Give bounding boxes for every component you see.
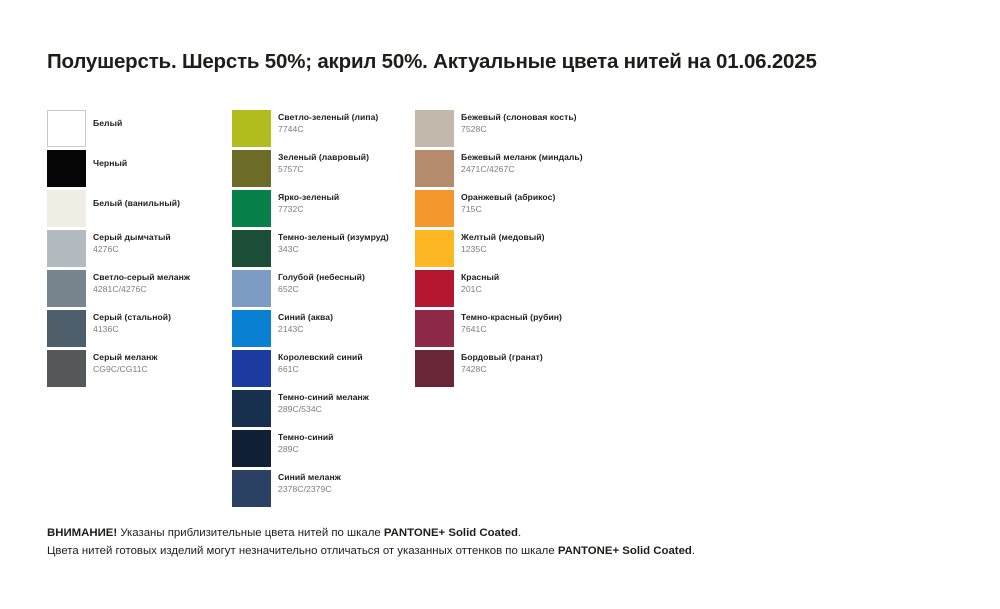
page-title: Полушерсть. Шерсть 50%; акрил 50%. Актуа… — [47, 50, 967, 74]
swatch-labels: Темно-синий289C — [278, 430, 508, 454]
color-swatch — [47, 110, 86, 147]
swatch-row: Зеленый (лавровый)5757C — [232, 150, 412, 190]
swatch-pantone-code: 1235C — [461, 242, 721, 254]
footer-brand-1: PANTONE+ Solid Coated — [384, 527, 518, 539]
color-swatch — [232, 390, 271, 427]
swatch-name: Оранжевый (абрикос) — [461, 190, 721, 202]
swatch-name: Темно-красный (рубин) — [461, 310, 721, 322]
color-swatch — [232, 430, 271, 467]
swatch-name: Темно-синий меланж — [278, 390, 508, 402]
swatch-pantone-code: 201C — [461, 282, 721, 294]
color-swatch — [232, 470, 271, 507]
swatch-name: Синий меланж — [278, 470, 508, 482]
swatch-row: Желтый (медовый)1235C — [415, 230, 655, 270]
color-swatch — [47, 230, 86, 267]
swatch-labels: Бежевый (слоновая кость)7528C — [461, 110, 721, 134]
swatch-labels: Бежевый меланж (миндаль)2471C/4267C — [461, 150, 721, 174]
swatch-row: Ярко-зеленый7732C — [232, 190, 412, 230]
swatch-labels: Темно-синий меланж289C/534C — [278, 390, 508, 414]
swatch-labels: Желтый (медовый)1235C — [461, 230, 721, 254]
color-swatch — [415, 150, 454, 187]
color-swatch — [232, 270, 271, 307]
footer-line-2-end: . — [692, 545, 695, 557]
swatch-labels: Красный201C — [461, 270, 721, 294]
color-swatch — [47, 350, 86, 387]
color-swatch — [232, 110, 271, 147]
color-swatch — [47, 150, 86, 187]
swatch-name: Бежевый (слоновая кость) — [461, 110, 721, 122]
swatch-row: Бежевый меланж (миндаль)2471C/4267C — [415, 150, 655, 190]
swatch-row: Бордовый (гранат)7428C — [415, 350, 655, 390]
swatch-name: Бежевый меланж (миндаль) — [461, 150, 721, 162]
color-swatch — [415, 350, 454, 387]
color-swatch — [47, 310, 86, 347]
swatch-row: Синий меланж2378C/2379C — [232, 470, 412, 510]
swatch-row: Белый — [47, 110, 227, 150]
swatch-row: Черный — [47, 150, 227, 190]
swatch-row: Темно-красный (рубин)7641C — [415, 310, 655, 350]
color-swatch — [232, 190, 271, 227]
swatch-pantone-code: 715C — [461, 202, 721, 214]
footer-brand-2: PANTONE+ Solid Coated — [558, 545, 692, 557]
swatch-row: Красный201C — [415, 270, 655, 310]
footer-line-2: Цвета нитей готовых изделий могут незнач… — [47, 542, 967, 560]
swatch-row: Оранжевый (абрикос)715C — [415, 190, 655, 230]
footer-line-1: ВНИМАНИЕ! Указаны приблизительные цвета … — [47, 524, 967, 542]
swatch-row: Светло-зеленый (липа)7744C — [232, 110, 412, 150]
color-swatch — [47, 190, 86, 227]
color-card-page: Полушерсть. Шерсть 50%; акрил 50%. Актуа… — [0, 0, 1000, 609]
footer-attention-label: ВНИМАНИЕ! — [47, 527, 117, 539]
color-swatch — [415, 310, 454, 347]
swatch-row: Серый дымчатый4276C — [47, 230, 227, 270]
swatch-row: Голубой (небесный)652C — [232, 270, 412, 310]
swatch-row: Бежевый (слоновая кость)7528C — [415, 110, 655, 150]
color-swatch — [415, 230, 454, 267]
swatch-column-3: Бежевый (слоновая кость)7528CБежевый мел… — [415, 110, 655, 390]
swatch-pantone-code: 7528C — [461, 122, 721, 134]
swatch-name: Желтый (медовый) — [461, 230, 721, 242]
swatch-labels: Бордовый (гранат)7428C — [461, 350, 721, 374]
footer-line-2-text: Цвета нитей готовых изделий могут незнач… — [47, 545, 558, 557]
color-swatch — [232, 310, 271, 347]
swatch-labels: Синий меланж2378C/2379C — [278, 470, 508, 494]
swatch-row: Королевский синий661C — [232, 350, 412, 390]
swatch-pantone-code: 7641C — [461, 322, 721, 334]
swatch-pantone-code: 2471C/4267C — [461, 162, 721, 174]
color-swatch — [47, 270, 86, 307]
swatch-column-2: Светло-зеленый (липа)7744CЗеленый (лавро… — [232, 110, 412, 510]
color-swatch — [415, 190, 454, 227]
color-swatch — [232, 230, 271, 267]
swatch-row: Темно-синий меланж289C/534C — [232, 390, 412, 430]
swatch-pantone-code: 2378C/2379C — [278, 482, 508, 494]
swatch-row: Серый (стальной)4136C — [47, 310, 227, 350]
swatch-pantone-code: 7428C — [461, 362, 721, 374]
color-swatch — [232, 350, 271, 387]
swatch-row: Темно-зеленый (изумруд)343C — [232, 230, 412, 270]
swatch-name: Красный — [461, 270, 721, 282]
color-swatch — [415, 110, 454, 147]
swatch-column-1: БелыйЧерныйБелый (ванильный)Серый дымчат… — [47, 110, 227, 390]
swatch-name: Темно-синий — [278, 430, 508, 442]
swatch-row: Светло-серый меланж4281C/4276C — [47, 270, 227, 310]
swatch-row: Темно-синий289C — [232, 430, 412, 470]
swatch-row: Синий (аква)2143C — [232, 310, 412, 350]
color-swatch — [415, 270, 454, 307]
swatch-labels: Оранжевый (абрикос)715C — [461, 190, 721, 214]
swatch-labels: Темно-красный (рубин)7641C — [461, 310, 721, 334]
footer-line-1-end: . — [518, 527, 521, 539]
swatch-row: Серый меланжCG9C/CG11C — [47, 350, 227, 390]
footer-disclaimer: ВНИМАНИЕ! Указаны приблизительные цвета … — [47, 524, 967, 561]
color-swatch — [232, 150, 271, 187]
swatch-name: Бордовый (гранат) — [461, 350, 721, 362]
swatch-row: Белый (ванильный) — [47, 190, 227, 230]
swatch-pantone-code: 289C/534C — [278, 402, 508, 414]
footer-line-1-text: Указаны приблизительные цвета нитей по ш… — [117, 527, 384, 539]
swatch-pantone-code: 289C — [278, 442, 508, 454]
